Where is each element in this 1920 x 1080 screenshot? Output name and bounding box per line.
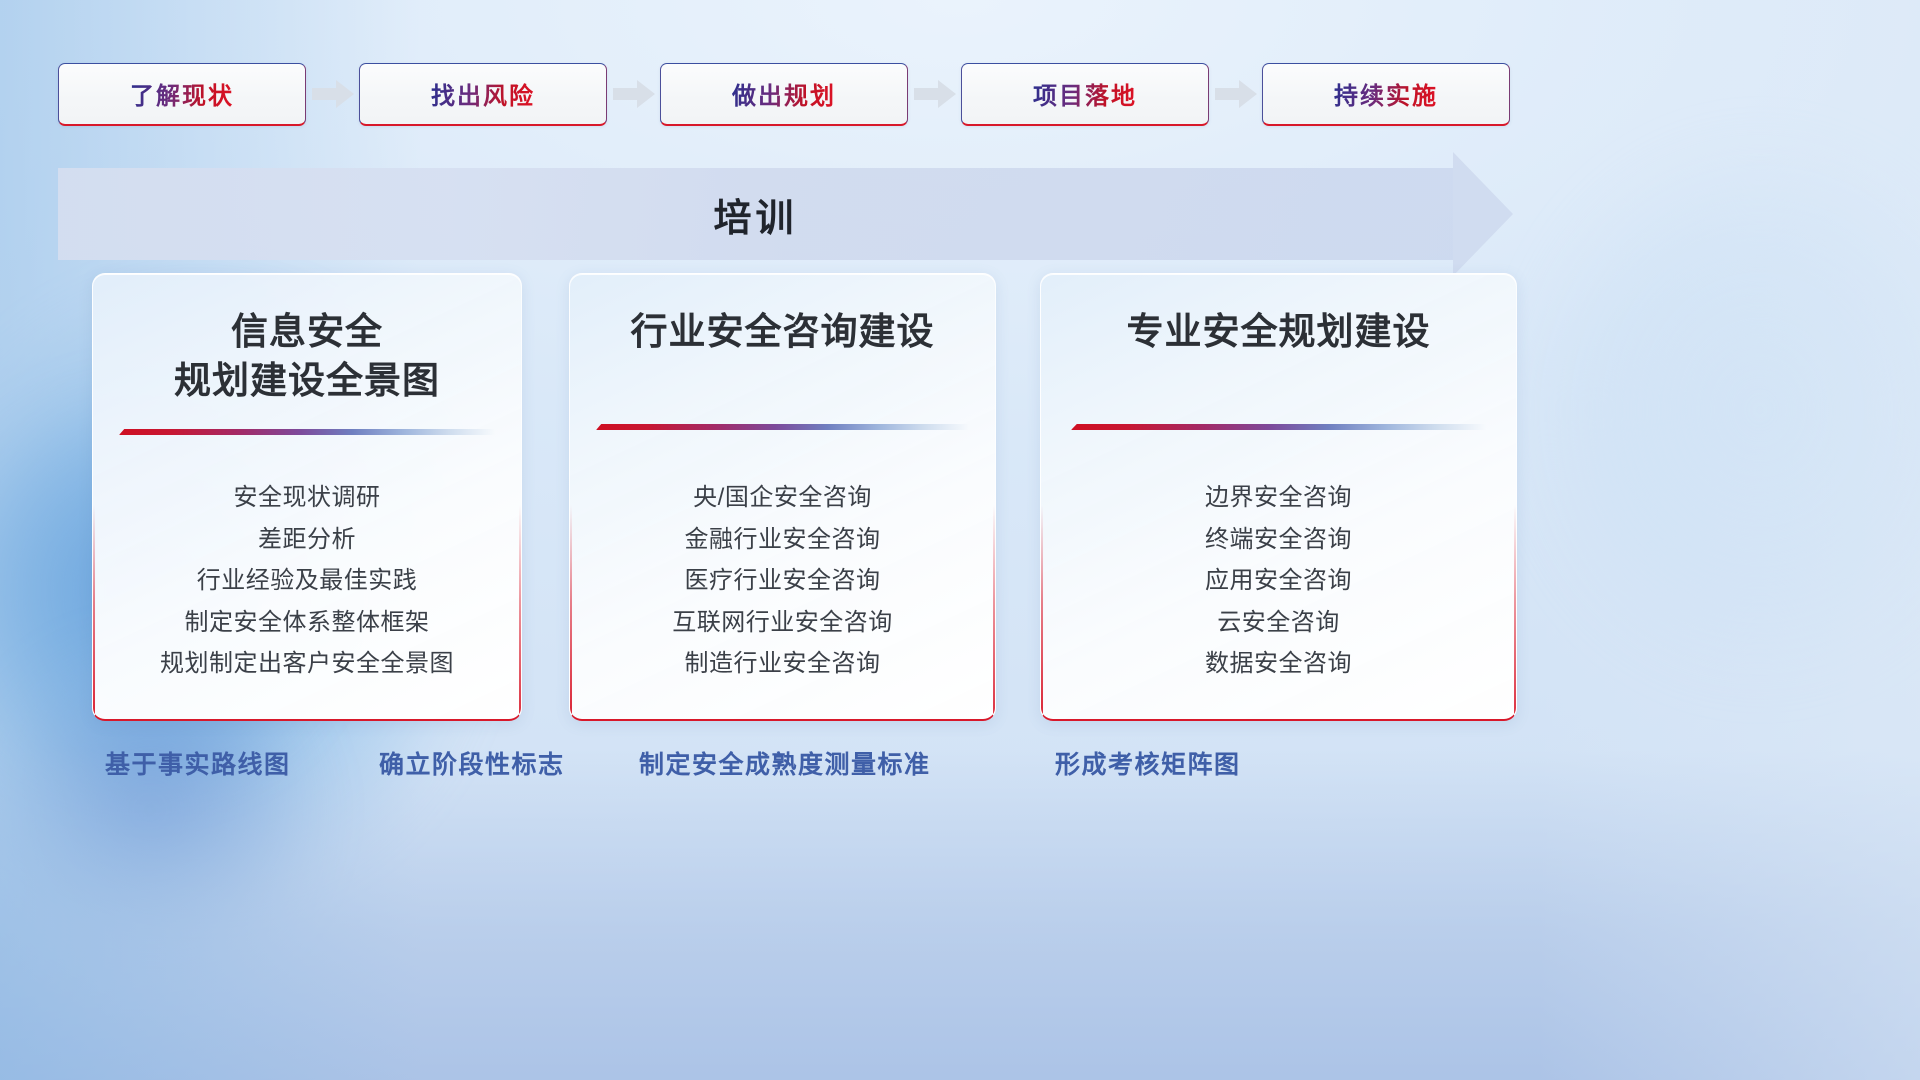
list-item: 金融行业安全咨询 bbox=[570, 519, 995, 561]
service-card[interactable]: 信息安全 规划建设全景图 安全现状调研 差距分析 行业经验及最佳实践 制定安全体… bbox=[92, 273, 522, 721]
service-card-title: 行业安全咨询建设 bbox=[570, 308, 995, 357]
list-item: 行业经验及最佳实践 bbox=[93, 560, 521, 602]
footer-label: 基于事实路线图 bbox=[105, 745, 291, 781]
process-step-label: 做出规划 bbox=[732, 76, 836, 111]
service-card[interactable]: 行业安全咨询建设 央/国企安全咨询 金融行业安全咨询 医疗行业安全咨询 互联网行… bbox=[569, 273, 996, 721]
list-item: 规划制定出客户安全全景图 bbox=[93, 643, 521, 685]
footer-label-group: 基于事实路线图 确立阶段性标志 制定安全成熟度测量标准 形成考核矩阵图 bbox=[0, 745, 1920, 805]
list-item: 数据安全咨询 bbox=[1041, 643, 1516, 685]
footer-label: 制定安全成熟度测量标准 bbox=[639, 745, 931, 781]
step-arrow-icon-1 bbox=[607, 80, 660, 108]
list-item: 终端安全咨询 bbox=[1041, 519, 1516, 561]
list-item: 安全现状调研 bbox=[93, 477, 521, 519]
list-item: 制定安全体系整体框架 bbox=[93, 602, 521, 644]
service-card-divider bbox=[596, 424, 969, 430]
training-banner: 培训 bbox=[58, 168, 1513, 260]
process-step-2[interactable]: 做出规划 bbox=[660, 63, 908, 126]
training-banner-label: 培训 bbox=[58, 168, 1453, 260]
service-card-title: 信息安全 规划建设全景图 bbox=[93, 308, 521, 406]
service-card-divider bbox=[1071, 424, 1486, 430]
list-item: 差距分析 bbox=[93, 519, 521, 561]
process-step-flow: 了解现状 找出风险 做出规划 项目落地 持续实施 bbox=[58, 62, 1510, 126]
step-arrow-icon-0 bbox=[306, 80, 359, 108]
list-item: 央/国企安全咨询 bbox=[570, 477, 995, 519]
service-card-title: 专业安全规划建设 bbox=[1041, 308, 1516, 357]
process-step-4[interactable]: 持续实施 bbox=[1262, 63, 1510, 126]
process-step-label: 持续实施 bbox=[1334, 76, 1438, 111]
process-step-0[interactable]: 了解现状 bbox=[58, 63, 306, 126]
list-item: 边界安全咨询 bbox=[1041, 477, 1516, 519]
step-arrow-icon-3 bbox=[1209, 80, 1262, 108]
process-step-label: 找出风险 bbox=[431, 76, 535, 111]
service-card-list: 央/国企安全咨询 金融行业安全咨询 医疗行业安全咨询 互联网行业安全咨询 制造行… bbox=[570, 477, 995, 685]
list-item: 云安全咨询 bbox=[1041, 602, 1516, 644]
process-step-1[interactable]: 找出风险 bbox=[359, 63, 607, 126]
service-card-list: 安全现状调研 差距分析 行业经验及最佳实践 制定安全体系整体框架 规划制定出客户… bbox=[93, 477, 521, 685]
footer-label: 确立阶段性标志 bbox=[379, 745, 565, 781]
service-card-list: 边界安全咨询 终端安全咨询 应用安全咨询 云安全咨询 数据安全咨询 bbox=[1041, 477, 1516, 685]
list-item: 制造行业安全咨询 bbox=[570, 643, 995, 685]
process-step-label: 项目落地 bbox=[1033, 76, 1137, 111]
list-item: 互联网行业安全咨询 bbox=[570, 602, 995, 644]
process-step-label: 了解现状 bbox=[130, 76, 234, 111]
training-banner-arrow-tip-icon bbox=[1453, 152, 1513, 276]
footer-label: 形成考核矩阵图 bbox=[1055, 745, 1241, 781]
process-step-3[interactable]: 项目落地 bbox=[961, 63, 1209, 126]
step-arrow-icon-2 bbox=[908, 80, 961, 108]
list-item: 医疗行业安全咨询 bbox=[570, 560, 995, 602]
service-card[interactable]: 专业安全规划建设 边界安全咨询 终端安全咨询 应用安全咨询 云安全咨询 数据安全… bbox=[1040, 273, 1517, 721]
service-card-group: 信息安全 规划建设全景图 安全现状调研 差距分析 行业经验及最佳实践 制定安全体… bbox=[0, 273, 1920, 721]
service-card-divider bbox=[119, 429, 495, 435]
list-item: 应用安全咨询 bbox=[1041, 560, 1516, 602]
